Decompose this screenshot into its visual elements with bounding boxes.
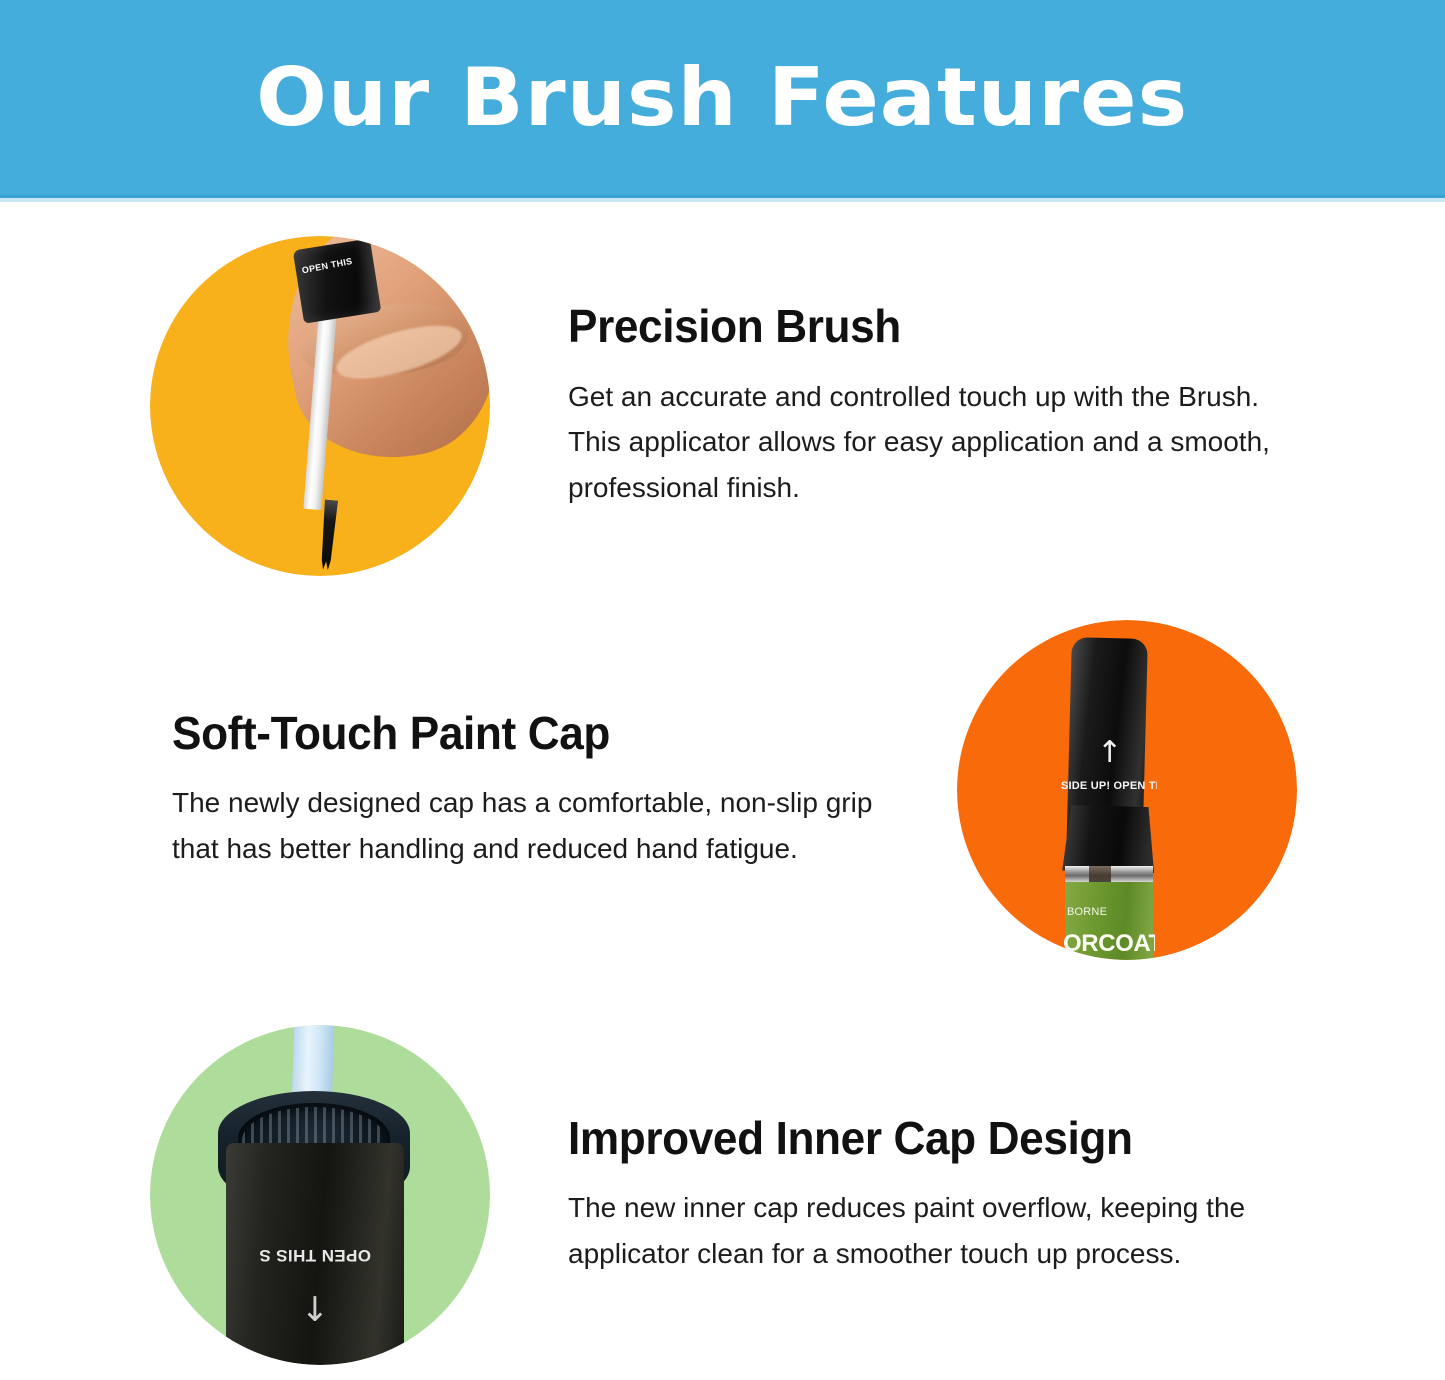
pen-chrome-ring <box>1065 866 1153 882</box>
feature-text-precision-brush: Precision Brush Get an accurate and cont… <box>490 302 1310 510</box>
brush-cap-label: OPEN THIS <box>301 252 374 276</box>
feature-row-improved-inner-cap-design: OPEN THIS S ↓ Improved Inner Cap Design … <box>150 1025 1260 1365</box>
feature-heading-improved-inner-cap-design: Improved Inner Cap Design <box>568 1114 1232 1164</box>
green-circle-photo: OPEN THIS S ↓ <box>150 1025 490 1365</box>
feature-heading-precision-brush: Precision Brush <box>568 302 1280 352</box>
pen-cap-taper <box>1062 805 1156 873</box>
orange-circle-clip: ↑ SIDE UP! OPEN THI BORNE ORCOAT <box>957 620 1297 960</box>
green-circle-clip: OPEN THIS S ↓ <box>150 1025 490 1365</box>
banner-underline-divider <box>0 198 1445 202</box>
brush-bristles <box>318 499 339 570</box>
feature-image-improved-inner-cap-design: OPEN THIS S ↓ <box>150 1025 490 1365</box>
feature-text-improved-inner-cap-design: Improved Inner Cap Design The new inner … <box>490 1114 1260 1276</box>
down-arrow-icon: ↓ <box>288 1293 342 1327</box>
pen-bottle-label-line-1: BORNE <box>1067 906 1153 918</box>
feature-body-improved-inner-cap-design: The new inner cap reduces paint overflow… <box>568 1185 1260 1276</box>
feature-row-precision-brush: OPEN THIS Precision Brush Get an accurat… <box>150 236 1310 576</box>
feature-text-soft-touch-paint-cap: Soft-Touch Paint Cap The newly designed … <box>172 709 957 871</box>
page-title: Our Brush Features <box>256 58 1188 138</box>
brush-cap: OPEN THIS <box>293 238 382 323</box>
feature-body-precision-brush: Get an accurate and controlled touch up … <box>568 374 1310 510</box>
cap-barrel-label: OPEN THIS S <box>244 1245 386 1265</box>
orange-circle-photo: ↑ SIDE UP! OPEN THI BORNE ORCOAT <box>957 620 1297 960</box>
pen-bottle-label: BORNE ORCOAT <box>1065 882 1153 960</box>
yellow-circle-photo: OPEN THIS <box>150 236 490 576</box>
feature-image-soft-touch-paint-cap: ↑ SIDE UP! OPEN THI BORNE ORCOAT <box>957 620 1297 960</box>
feature-body-soft-touch-paint-cap: The newly designed cap has a comfortable… <box>172 780 887 871</box>
feature-heading-soft-touch-paint-cap: Soft-Touch Paint Cap <box>172 709 858 759</box>
feature-image-precision-brush: OPEN THIS <box>150 236 490 576</box>
pen-bottle-label-line-2: ORCOAT <box>1063 930 1155 958</box>
up-arrow-icon: ↑ <box>1097 738 1114 770</box>
cap-barrel: OPEN THIS S ↓ <box>226 1143 404 1365</box>
feature-row-soft-touch-paint-cap: Soft-Touch Paint Cap The newly designed … <box>172 620 1297 960</box>
page-header-banner: Our Brush Features <box>0 0 1445 198</box>
pen-cap-label: SIDE UP! OPEN THI <box>1061 780 1157 792</box>
yellow-circle-clip: OPEN THIS <box>150 236 490 576</box>
